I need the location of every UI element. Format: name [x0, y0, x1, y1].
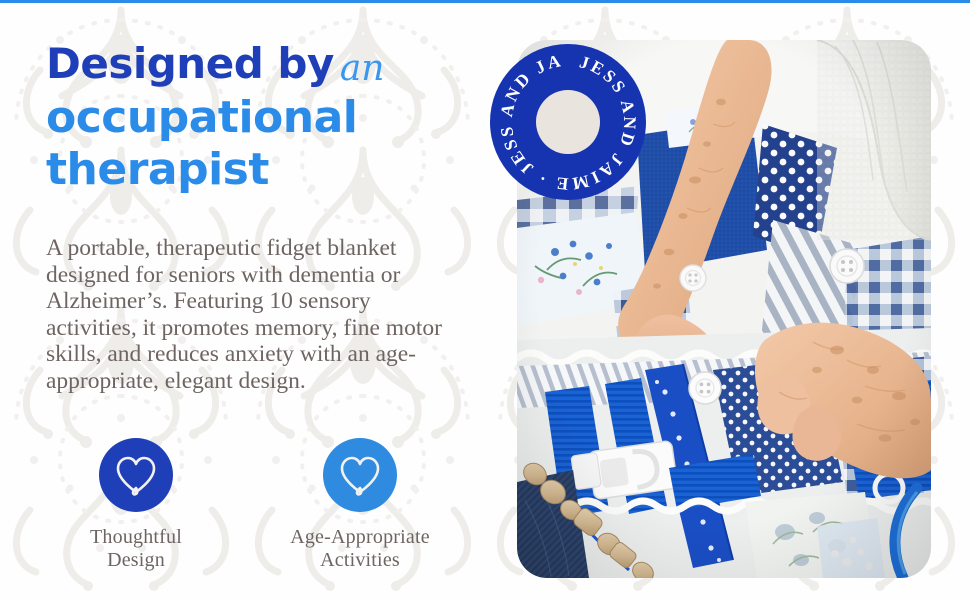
headline-script-word: an [334, 48, 385, 89]
feature-item-age-appropriate-activities: Age-Appropriate Activities [270, 438, 450, 572]
feature-label-2-line-2: Activities [290, 549, 430, 572]
promo-banner: Designed byan occupational therapist A p… [0, 0, 970, 600]
page-title: Designed byan occupational therapist [46, 40, 496, 195]
headline-line-1: Designed byan [46, 40, 496, 91]
heart-icon [113, 454, 159, 496]
feature-label-1: Thoughtful Design [90, 526, 182, 572]
feature-icon-circle-1 [99, 438, 173, 512]
top-accent-rule [0, 0, 970, 3]
badge-inner-circle [536, 90, 600, 154]
brand-seal-badge: JESS AND JAIME · JESS AND JAIME · [490, 44, 646, 200]
headline-line-1-main: Designed by [46, 39, 334, 88]
left-content-column: Designed byan occupational therapist A p… [46, 40, 496, 394]
feature-label-1-line-1: Thoughtful [90, 526, 182, 549]
feature-list: Thoughtful Design Age-Appropriate Activi… [46, 438, 476, 572]
feature-icon-circle-2 [323, 438, 397, 512]
body-paragraph: A portable, therapeutic fidget blanket d… [46, 235, 456, 394]
headline-line-3: therapist [46, 145, 496, 195]
feature-label-2-line-1: Age-Appropriate [290, 526, 430, 549]
feature-label-1-line-2: Design [90, 549, 182, 572]
heart-icon [337, 454, 383, 496]
feature-item-thoughtful-design: Thoughtful Design [46, 438, 226, 572]
headline-line-2: occupational [46, 93, 496, 143]
feature-label-2: Age-Appropriate Activities [290, 526, 430, 572]
